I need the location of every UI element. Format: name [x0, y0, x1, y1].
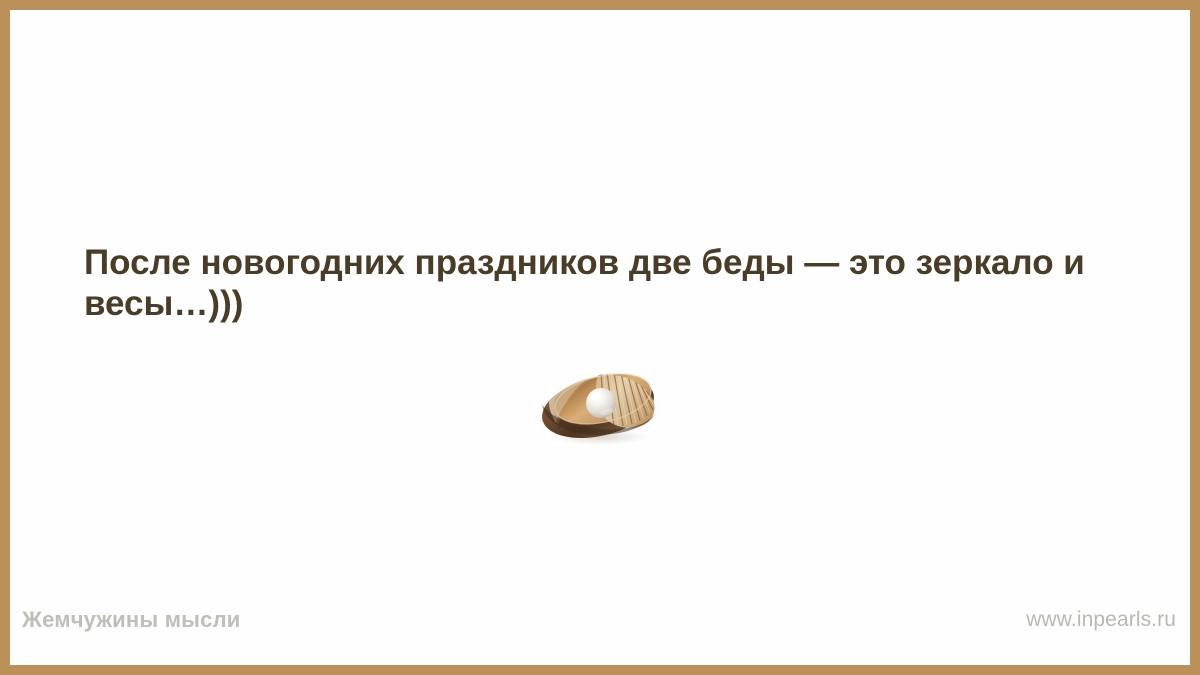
quote-block: После новогодних праздников две беды — э…	[84, 242, 1129, 324]
site-url[interactable]: www.inpearls.ru	[1026, 608, 1176, 632]
quote-text: После новогодних праздников две беды — э…	[84, 242, 1129, 324]
oyster-shell-with-pearl-icon	[535, 365, 665, 447]
oyster-shell-illustration	[535, 365, 665, 447]
site-name: Жемчужины мысли	[22, 607, 241, 633]
quote-card: После новогодних праздников две беды — э…	[0, 0, 1200, 675]
footer: Жемчужины мысли www.inpearls.ru	[10, 599, 1190, 655]
